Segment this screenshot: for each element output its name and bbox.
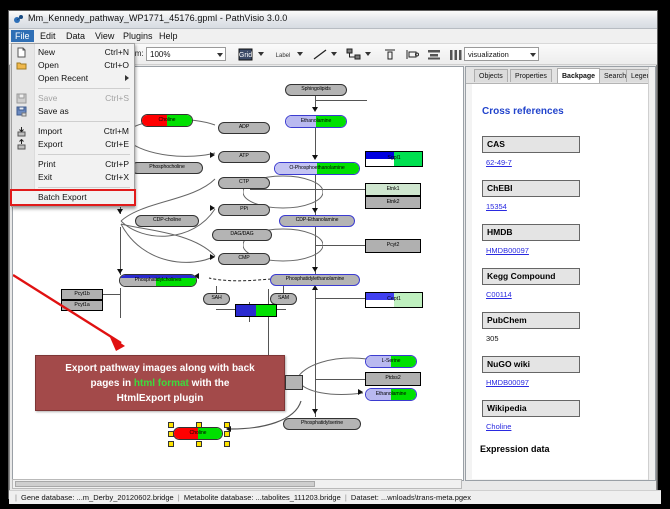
grid-dropdown-arrow[interactable] — [258, 52, 264, 56]
label-tool-button[interactable]: Label — [271, 47, 295, 63]
menu-item-open[interactable]: Open Ctrl+O — [12, 59, 134, 72]
menu-item-label: Save as — [38, 106, 69, 116]
gene-node[interactable]: Pcyt2 — [365, 239, 421, 253]
chevron-down-icon — [530, 53, 536, 57]
save-as-icon — [16, 106, 27, 117]
import-icon — [16, 126, 27, 137]
menu-item-label: Import — [38, 126, 62, 136]
pathvisio-window: Mm_Kennedy_pathway_WP1771_45176.gpml - P… — [8, 10, 658, 499]
svg-text:Grid: Grid — [239, 52, 252, 59]
node-label: CDP-choline — [153, 218, 181, 223]
menu-item-label: Open — [38, 60, 59, 70]
menu-bar: File Edit Data View Plugins Help — [9, 29, 657, 44]
zoom-combobox[interactable]: 100% — [146, 47, 226, 61]
metabolite-node[interactable]: ATP — [218, 151, 270, 163]
node-label: SAH — [211, 296, 221, 301]
node-label: SAM — [278, 296, 289, 301]
save-disk-icon — [16, 93, 27, 104]
menu-item-accel: Ctrl+N — [105, 46, 129, 59]
menu-item-label: Export — [38, 139, 63, 149]
xref-source-cas: CAS — [482, 136, 580, 153]
line-tool-button[interactable] — [311, 47, 329, 63]
menu-item-accel: Ctrl+X — [105, 171, 129, 184]
metabolite-node[interactable]: O-Phosphoethanolamine — [274, 162, 360, 175]
node-label: Ptdss2 — [385, 376, 400, 381]
status-gene-db-label: Gene database: — [21, 493, 74, 502]
window-title: Mm_Kennedy_pathway_WP1771_45176.gpml - P… — [28, 13, 287, 23]
menu-item-label: Exit — [38, 172, 52, 182]
distribute-horizontal-button[interactable] — [447, 47, 465, 63]
side-panel-tabs: Objects Properties Backpage Search Legen… — [466, 67, 655, 84]
node-label: Phosphatidylserine — [301, 421, 343, 426]
node-label: Etnk2 — [387, 200, 400, 205]
visualization-value: visualization — [468, 50, 509, 59]
chevron-right-icon — [125, 75, 129, 81]
open-folder-icon — [16, 60, 27, 71]
metabolite-node[interactable]: Choline — [141, 114, 193, 127]
metabolite-node[interactable]: Ethanolamine — [285, 115, 347, 128]
tab-backpage[interactable]: Backpage — [557, 68, 600, 83]
grid-toggle-button[interactable]: Grid — [237, 47, 256, 63]
chevron-down-icon — [217, 53, 223, 57]
menu-item-export[interactable]: Export Ctrl+E — [12, 138, 134, 151]
callout-line3: HtmlExport plugin — [117, 393, 204, 404]
menu-edit[interactable]: Edit — [36, 30, 60, 42]
menu-item-import[interactable]: Import Ctrl+M — [12, 125, 134, 138]
cofactor-loop-pcyt2 — [243, 219, 323, 275]
xref-value-wikipedia[interactable]: Choline — [486, 422, 511, 431]
metabolite-node[interactable]: ADP — [218, 122, 270, 134]
align-top-button[interactable] — [381, 47, 399, 63]
side-panel: Objects Properties Backpage Search Legen… — [465, 66, 656, 481]
callout-line2-b: with the — [189, 378, 230, 389]
label-dropdown-arrow[interactable] — [297, 52, 303, 56]
menu-item-accel: Ctrl+E — [105, 138, 129, 151]
menu-separator — [38, 121, 130, 122]
connector-tool-button[interactable] — [345, 47, 363, 63]
metabolite-node[interactable]: CDP-choline — [135, 215, 199, 227]
metabolite-node[interactable]: SAH — [203, 293, 230, 305]
node-label: O-Phosphoethanolamine — [289, 166, 344, 171]
xref-source-wikipedia: Wikipedia — [482, 400, 580, 417]
metabolite-node[interactable]: L-Serine — [365, 355, 417, 368]
menu-separator — [38, 154, 130, 155]
node-label: Etnk1 — [387, 187, 400, 192]
xref-source-chebi: ChEBI — [482, 180, 580, 197]
menu-item-open-recent[interactable]: Open Recent — [12, 72, 134, 85]
node-label: PPi — [240, 207, 248, 212]
menu-item-batch-export[interactable]: Batch Export — [12, 191, 134, 204]
metabolite-node[interactable]: Phosphocholine — [131, 162, 203, 174]
svg-text:Label: Label — [276, 53, 291, 59]
menu-help[interactable]: Help — [155, 30, 182, 42]
xref-source-pubchem: PubChem — [482, 312, 580, 329]
callout-line1: Export pathway images along with back — [65, 363, 255, 374]
metabolite-node[interactable]: DAG/DAG — [212, 229, 272, 241]
gene-node[interactable]: Ptdss2 — [365, 372, 421, 386]
xref-source-kegg: Kegg Compound — [482, 268, 580, 285]
node-label: CMP — [238, 256, 249, 261]
menu-item-save: Save Ctrl+S — [12, 92, 134, 105]
xref-value-kegg[interactable]: C00114 — [486, 290, 512, 299]
line-dropdown-arrow[interactable] — [331, 52, 337, 56]
node-label: Phosphocholine — [149, 165, 185, 170]
node-label: Ethanolamine — [301, 119, 332, 124]
file-menu-dropdown[interactable]: New Ctrl+N Open Ctrl+O Open Recent Save … — [11, 43, 135, 207]
node-label: L-Serine — [382, 359, 401, 364]
menu-item-new[interactable]: New Ctrl+N — [12, 46, 134, 59]
connector-dropdown-arrow[interactable] — [365, 52, 371, 56]
menu-separator — [38, 88, 130, 89]
node-label: CDP-Ethanolamine — [296, 218, 339, 223]
menu-item-accel: Ctrl+O — [104, 59, 129, 72]
node-label: Sgpl1 — [366, 155, 422, 161]
metabolite-node[interactable]: CDP-Ethanolamine — [279, 215, 355, 227]
metabolite-node[interactable]: CMP — [218, 253, 270, 265]
metabolite-node[interactable]: Phosphatidylserine — [283, 418, 361, 430]
cross-references-heading: Cross references — [482, 106, 564, 117]
status-metabolite-db-value: ...tabolites_111203.bridge — [256, 493, 341, 502]
menu-item-label: New — [38, 47, 55, 57]
visualization-combobox[interactable]: visualization — [464, 47, 539, 61]
pathvisio-app-icon — [13, 14, 24, 25]
node-label: Ethanolamine — [376, 392, 407, 397]
tab-properties[interactable]: Properties — [510, 69, 552, 82]
status-gene-db-value: ...m_Derby_20120602.bridge — [77, 493, 174, 502]
annotation-callout: Export pathway images along with back pa… — [35, 355, 285, 411]
metabolite-node[interactable]: Phosphatidylethanolamine — [270, 274, 360, 286]
export-icon — [16, 139, 27, 150]
callout-highlight: html format — [134, 378, 189, 389]
xref-source-nugo: NuGO wiki — [482, 356, 580, 373]
node-label: DAG/DAG — [230, 232, 253, 237]
callout-line2-a: pages in — [91, 378, 134, 389]
side-panel-scrollbar[interactable] — [648, 67, 655, 480]
title-bar: Mm_Kennedy_pathway_WP1771_45176.gpml - P… — [9, 11, 657, 29]
tab-objects[interactable]: Objects — [474, 69, 508, 82]
menu-item-save-as[interactable]: Save as — [12, 105, 134, 118]
menu-separator — [38, 187, 130, 188]
menu-item-accel: Ctrl+M — [104, 125, 129, 138]
menu-data[interactable]: Data — [62, 30, 89, 42]
red-pointer-arrow — [13, 247, 153, 357]
node-label: Cept1 — [366, 296, 422, 302]
menu-item-label: Batch Export — [38, 192, 87, 202]
status-metabolite-db-label: Metabolite database: — [184, 493, 254, 502]
metabolite-node[interactable]: Sphingolipids — [285, 84, 347, 96]
node-label: Choline — [159, 118, 176, 123]
metabolite-node[interactable]: PPi — [218, 204, 270, 216]
node-label: Sphingolipids — [301, 87, 331, 92]
expression-data-heading: Expression data — [480, 444, 550, 454]
xref-value-cas[interactable]: 62-49-7 — [486, 158, 512, 167]
menu-item-accel: Ctrl+S — [105, 92, 129, 105]
xref-value-nugo[interactable]: HMDB00097 — [486, 378, 529, 387]
gene-node[interactable]: Etnk2 — [365, 196, 421, 209]
metabolite-node[interactable]: Ethanolamine — [365, 388, 417, 401]
node-label: CTP — [239, 180, 249, 185]
gene-node[interactable]: Etnk1 — [365, 183, 421, 196]
gene-node[interactable]: Cept1 — [365, 292, 423, 308]
node-label: ATP — [239, 154, 248, 159]
xref-value-pubchem: 305 — [486, 334, 499, 343]
align-left-button[interactable] — [403, 47, 421, 63]
xref-source-hmdb: HMDB — [482, 224, 580, 241]
menu-item-label: Print — [38, 159, 55, 169]
metabolite-node[interactable]: CTP — [218, 177, 270, 189]
scrollbar-thumb[interactable] — [15, 481, 315, 487]
menu-item-label: Save — [38, 93, 57, 103]
menu-item-exit[interactable]: Exit Ctrl+X — [12, 171, 134, 184]
screenshot-root: Mm_Kennedy_pathway_WP1771_45176.gpml - P… — [0, 0, 670, 509]
menu-file[interactable]: File — [11, 30, 34, 42]
distribute-vertical-button[interactable] — [425, 47, 443, 63]
status-dataset-label: Dataset: — [351, 493, 379, 502]
menu-view[interactable]: View — [91, 30, 118, 42]
new-file-icon — [16, 47, 27, 58]
gene-node[interactable]: Sgpl1 — [365, 151, 423, 167]
gene-node[interactable] — [235, 304, 277, 317]
node-label: Pcyt2 — [387, 243, 399, 248]
xref-value-hmdb[interactable]: HMDB00097 — [486, 246, 529, 255]
zoom-value: 100% — [150, 50, 170, 59]
xref-value-chebi[interactable]: 15354 — [486, 202, 507, 211]
menu-item-accel: Ctrl+P — [105, 158, 129, 171]
status-dataset-value: ...wnloads\trans-meta.pgex — [381, 493, 471, 502]
selection-handles[interactable] — [168, 422, 228, 445]
menu-item-label: Open Recent — [38, 73, 88, 83]
canvas-horizontal-scrollbar[interactable] — [12, 479, 462, 489]
callout-connector-stub — [285, 375, 303, 390]
node-label: Phosphatidylethanolamine — [286, 277, 344, 282]
node-label: ADP — [239, 125, 249, 130]
menu-plugins[interactable]: Plugins — [119, 30, 157, 42]
menu-item-print[interactable]: Print Ctrl+P — [12, 158, 134, 171]
backpage-content: Cross references CAS 62-49-7 ChEBI 15354… — [472, 84, 654, 479]
status-bar: | Gene database: ...m_Derby_20120602.bri… — [9, 490, 661, 504]
